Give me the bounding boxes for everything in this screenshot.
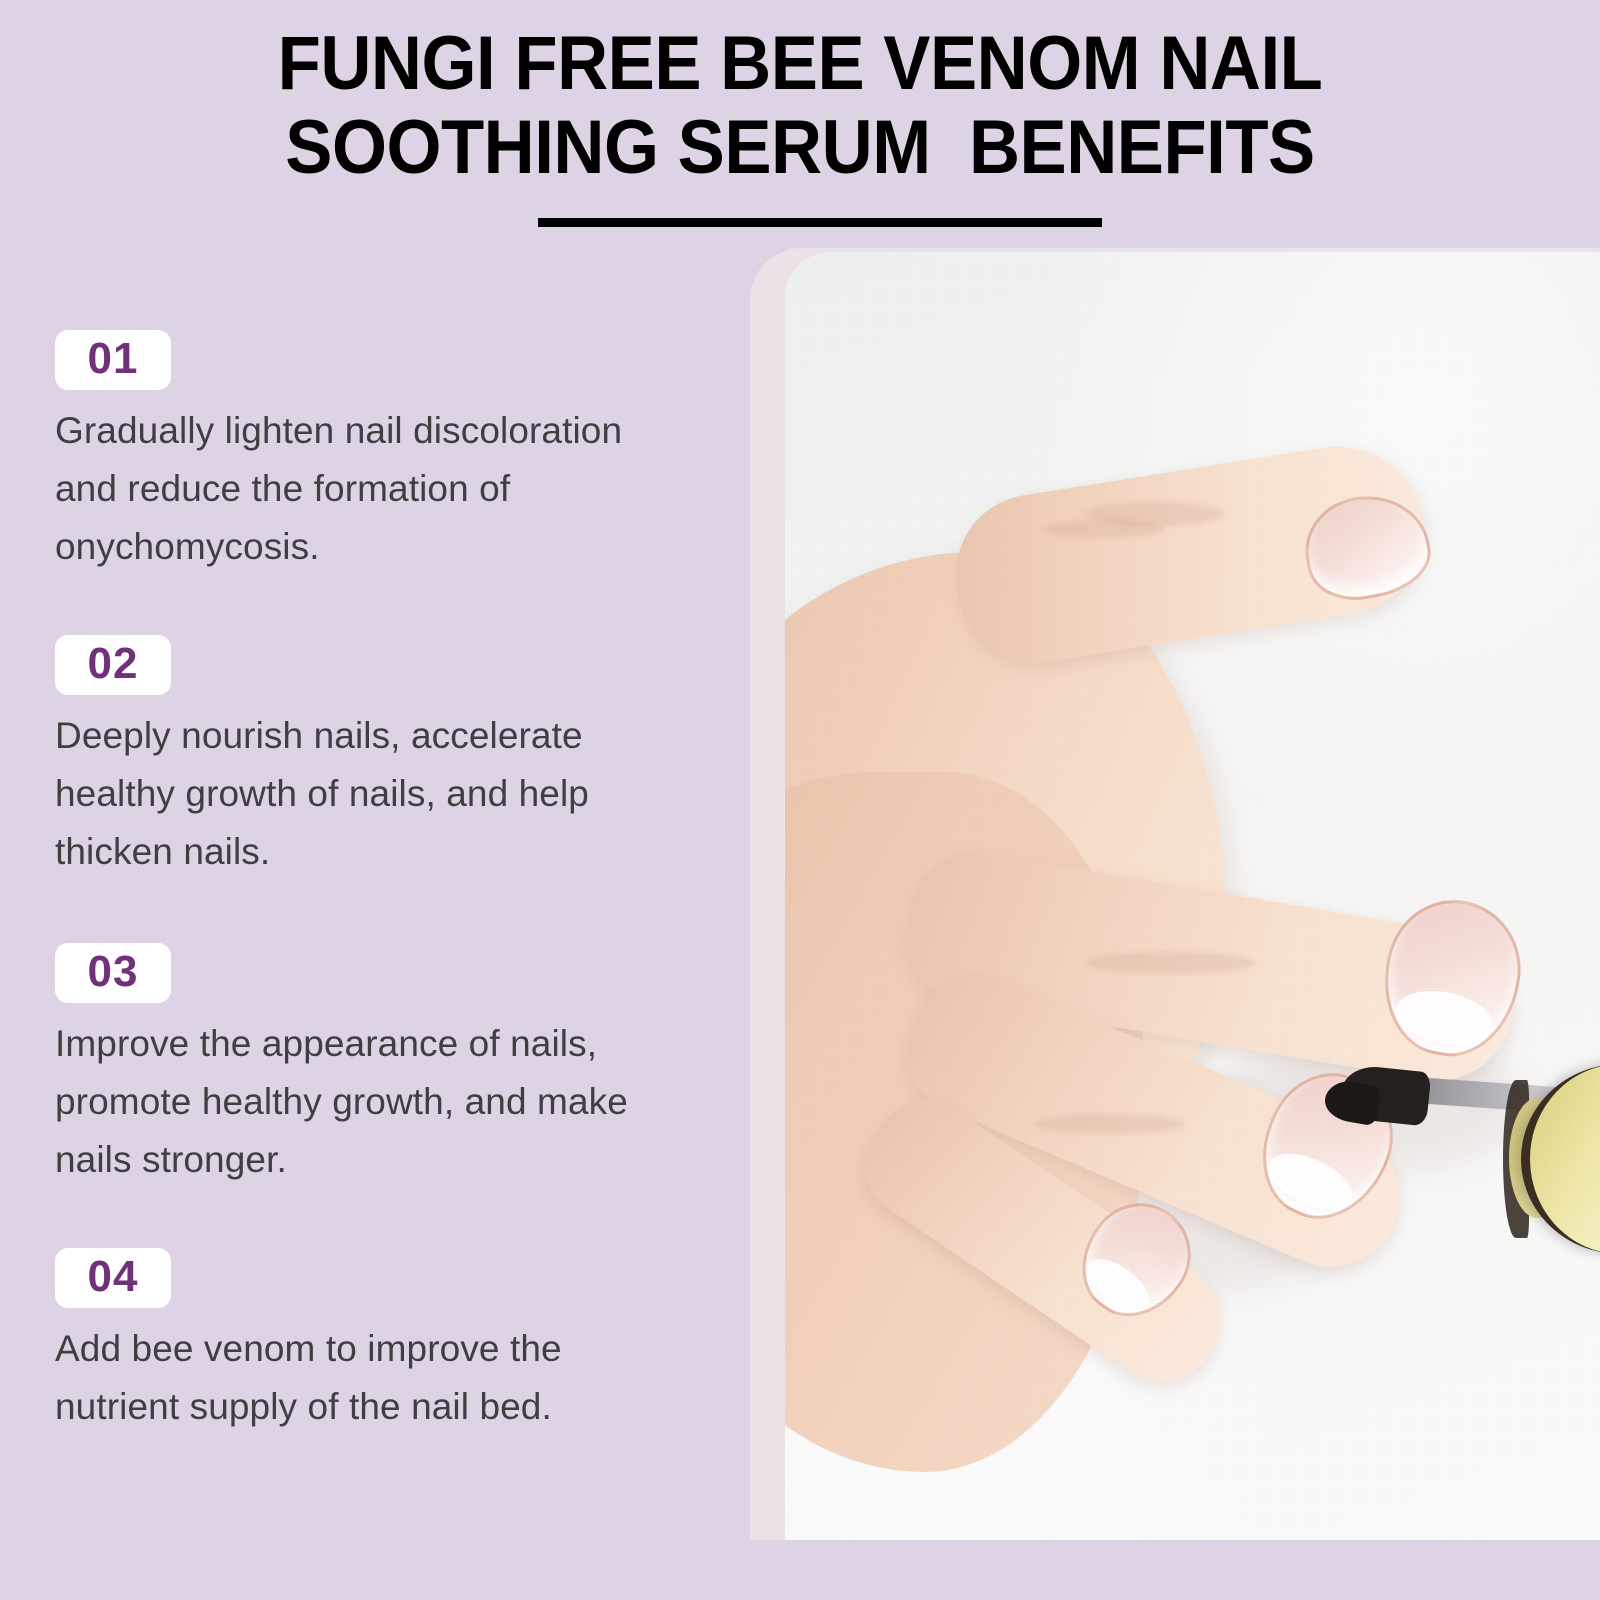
title-line-2: SOOTHING SERUM BENEFITS: [56, 106, 1544, 190]
benefit-description: Improve the appearance of nails, promote…: [55, 1015, 685, 1189]
photo-grain: [785, 252, 1600, 1540]
page-title: FUNGI FREE BEE VENOM NAIL SOOTHING SERUM…: [0, 22, 1600, 227]
title-line-1: FUNGI FREE BEE VENOM NAIL: [56, 22, 1544, 106]
benefit-item-04: 04 Add bee venom to improve the nutrient…: [0, 1248, 700, 1436]
benefit-number-badge: 04: [55, 1248, 171, 1308]
title-underline: [538, 218, 1102, 227]
benefit-number-badge: 01: [55, 330, 171, 390]
benefit-number: 03: [88, 947, 139, 996]
product-photo: [785, 252, 1600, 1540]
benefit-item-03: 03 Improve the appearance of nails, prom…: [0, 943, 700, 1189]
benefit-description: Deeply nourish nails, accelerate healthy…: [55, 707, 685, 881]
benefit-number: 04: [88, 1252, 139, 1301]
benefit-number-badge: 03: [55, 943, 171, 1003]
infographic-poster: FUNGI FREE BEE VENOM NAIL SOOTHING SERUM…: [0, 0, 1600, 1600]
benefit-number: 02: [88, 639, 139, 688]
benefit-item-01: 01 Gradually lighten nail discoloration …: [0, 330, 700, 576]
benefit-description: Gradually lighten nail discoloration and…: [55, 402, 685, 576]
benefit-number-badge: 02: [55, 635, 171, 695]
benefit-number: 01: [88, 334, 139, 383]
benefit-item-02: 02 Deeply nourish nails, accelerate heal…: [0, 635, 700, 881]
benefit-description: Add bee venom to improve the nutrient su…: [55, 1320, 685, 1436]
